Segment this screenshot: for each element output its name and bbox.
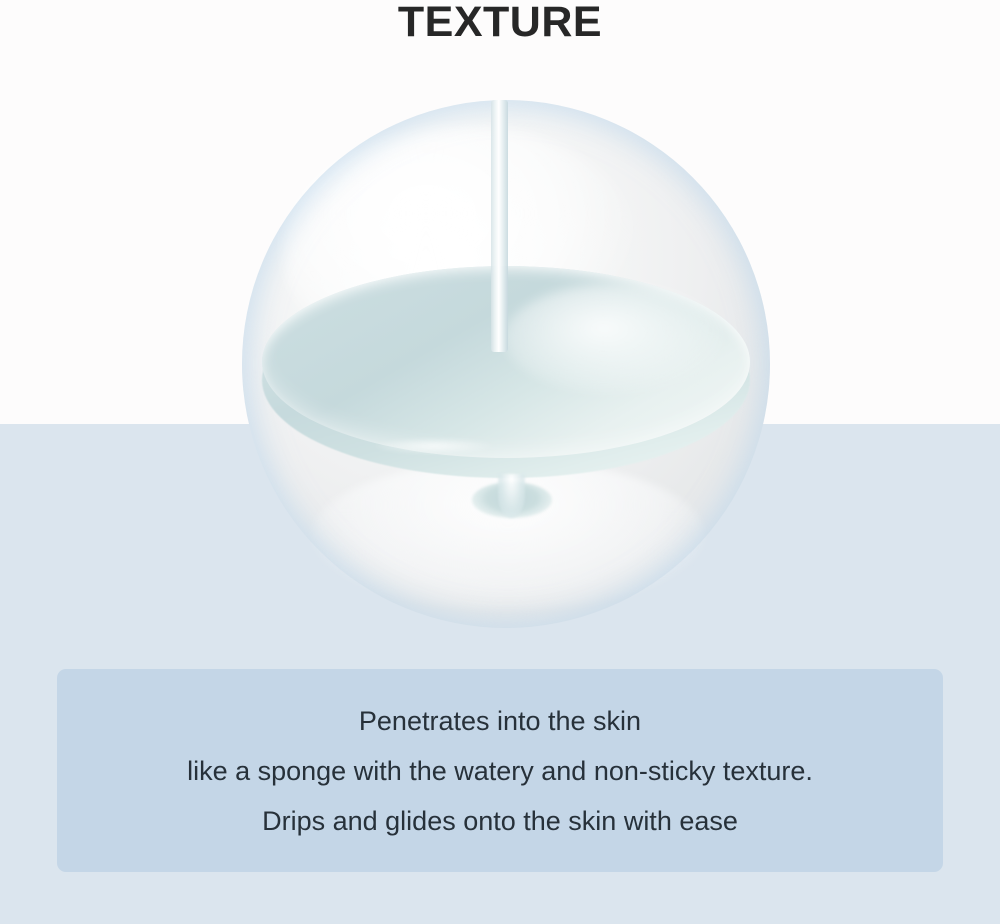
caption-box: Penetrates into the skin like a sponge w…: [57, 669, 943, 872]
hero-illustration: [242, 100, 770, 628]
stream-neck: [498, 474, 525, 518]
puddle-gloss-highlight: [504, 284, 724, 394]
caption-line-3: Drips and glides onto the skin with ease: [262, 796, 738, 846]
page-title: TEXTURE: [0, 0, 1000, 44]
liquid-stream: [491, 100, 508, 352]
texture-feature-page: TEXTURE Penetrates into the skin like a …: [0, 0, 1000, 924]
caption-line-2: like a sponge with the watery and non-st…: [187, 746, 813, 796]
caption-line-1: Penetrates into the skin: [359, 696, 641, 746]
puddle-lip-highlight: [374, 438, 494, 454]
